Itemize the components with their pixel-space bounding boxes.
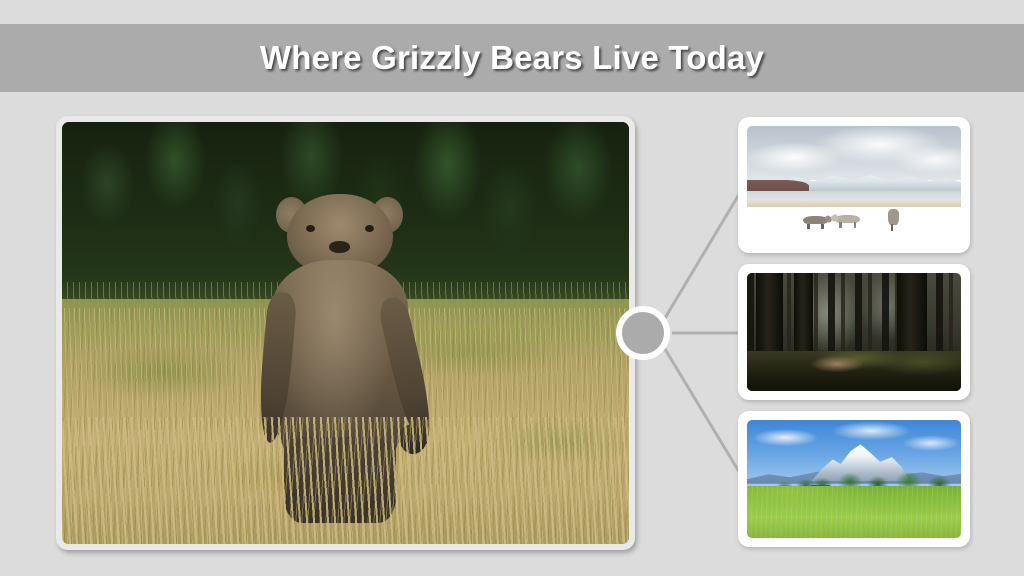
forest-path-clearing — [811, 356, 862, 373]
caribou-standing-leg — [891, 224, 892, 231]
hero-image-frame[interactable] — [56, 116, 635, 550]
caribou-left — [803, 216, 829, 224]
caribou-right-leg-front — [839, 222, 842, 227]
caribou-left-leg-front — [807, 224, 810, 229]
caribou-left-leg-rear — [821, 224, 824, 229]
thumbnail-old-growth-forest[interactable] — [738, 264, 970, 400]
caribou-standing — [888, 209, 899, 226]
caribou-right — [835, 215, 861, 223]
caribou-right-leg-rear — [854, 222, 857, 227]
thumbnail-alpine-meadow[interactable] — [738, 411, 970, 547]
hero-image-grizzly-bear[interactable] — [62, 122, 629, 544]
page-title: Where Grizzly Bears Live Today — [0, 24, 1024, 92]
thumbnail-tundra-caribou[interactable] — [738, 117, 970, 253]
thumbnail-old-growth-forest-photo[interactable] — [747, 273, 961, 391]
bear-eye-left — [306, 225, 315, 232]
title-bar: Where Grizzly Bears Live Today — [0, 24, 1024, 92]
tundra-sky — [747, 126, 961, 180]
bear-eye-right — [365, 225, 374, 232]
alpine-green-meadow — [747, 486, 961, 538]
thumbnail-alpine-meadow-photo[interactable] — [747, 420, 961, 538]
connector-line-bottom — [665, 349, 744, 480]
thumbnail-tundra-caribou-photo[interactable] — [747, 126, 961, 244]
bear-nose — [329, 241, 350, 252]
hero-grass-foreground — [62, 417, 629, 544]
slide-canvas: Where Grizzly Bears Live Today — [0, 0, 1024, 576]
connector-line-top — [665, 186, 744, 318]
